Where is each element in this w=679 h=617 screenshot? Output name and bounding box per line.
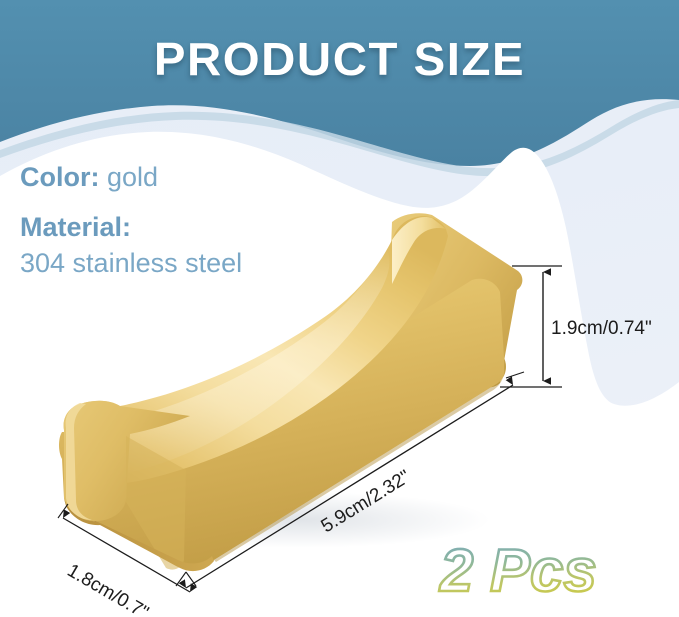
- quantity-badge-graphic: 2 Pcs: [436, 535, 646, 607]
- quantity-badge-label: 2 Pcs: [439, 537, 597, 604]
- product-size-infographic: PRODUCT SIZE Color: gold Material: 304 s…: [0, 0, 679, 617]
- dimension-annotations: 1.9cm/0.74" 5.9cm/2.32" 1.8cm/0.7": [0, 0, 679, 617]
- dimension-length-ext-far: [506, 372, 524, 378]
- dimension-width: 1.8cm/0.7": [58, 504, 196, 617]
- dimension-width-label: 1.8cm/0.7": [63, 560, 152, 617]
- dimension-length-ext-near: [176, 572, 186, 586]
- dimension-width-ext-left: [58, 504, 68, 518]
- quantity-badge: 2 Pcs: [436, 535, 646, 607]
- dimension-height-label: 1.9cm/0.74": [551, 318, 652, 339]
- dimension-width-ext-right: [186, 572, 196, 586]
- dimension-height: 1.9cm/0.74": [500, 266, 652, 387]
